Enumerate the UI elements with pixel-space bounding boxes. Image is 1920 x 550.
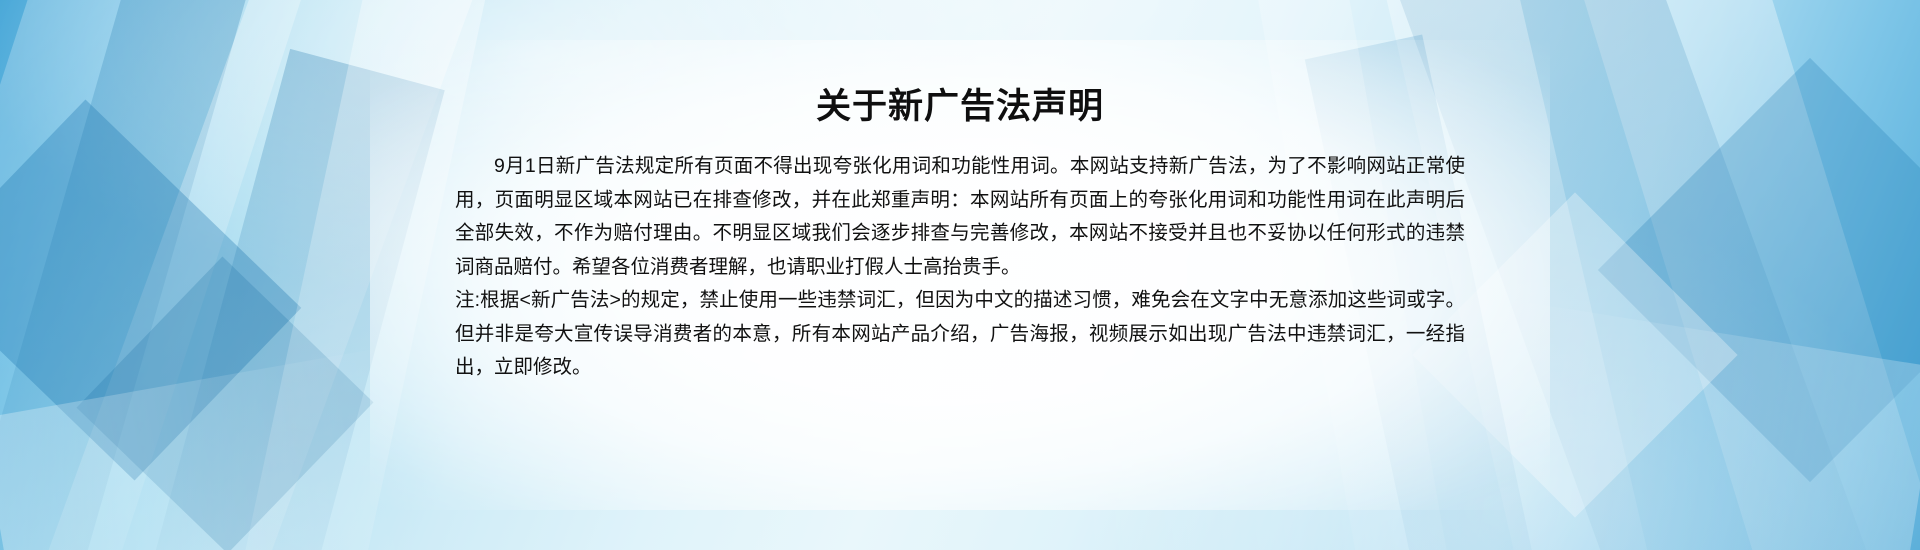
statement-note-paragraph: 注:根据<新广告法>的规定，禁止使用一些违禁词汇，但因为中文的描述习惯，难免会在… — [455, 284, 1465, 385]
statement-content: 关于新广告法声明 9月1日新广告法规定所有页面不得出现夸张化用词和功能性用词。本… — [455, 0, 1465, 550]
page-title: 关于新广告法声明 — [455, 86, 1465, 128]
advertising-law-statement-banner: 关于新广告法声明 9月1日新广告法规定所有页面不得出现夸张化用词和功能性用词。本… — [0, 0, 1920, 550]
statement-paragraph: 9月1日新广告法规定所有页面不得出现夸张化用词和功能性用词。本网站支持新广告法，… — [455, 150, 1465, 284]
statement-body: 9月1日新广告法规定所有页面不得出现夸张化用词和功能性用词。本网站支持新广告法，… — [455, 150, 1465, 385]
